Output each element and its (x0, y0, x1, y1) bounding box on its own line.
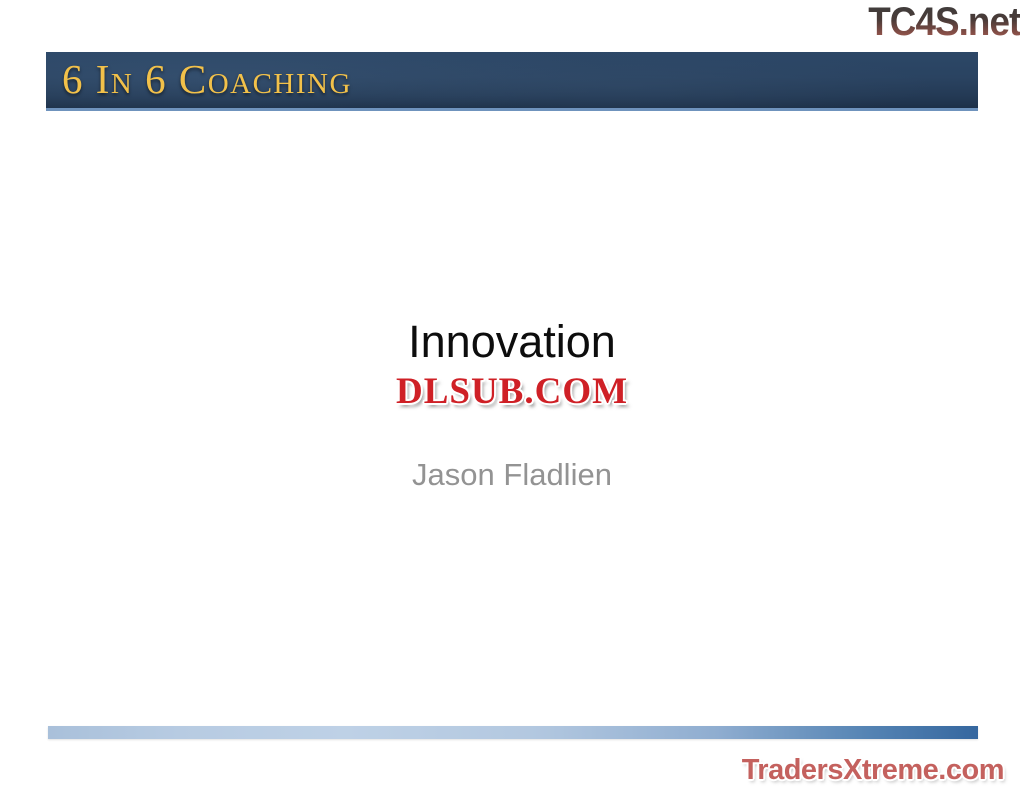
slide-header-banner: 6 In 6 Coaching (46, 52, 978, 111)
slide-subtitle-author: Jason Fladlien (0, 456, 1024, 494)
footer-divider-bar (48, 726, 978, 739)
page-title: Innovation (0, 316, 1024, 368)
tradersxtreme-watermark: TradersXtreme.com (742, 753, 1004, 787)
dlsub-watermark: DLSUB.COM (396, 373, 628, 411)
presentation-slide: TC4S.net 6 In 6 Coaching Innovation DLSU… (0, 0, 1024, 791)
tc4s-watermark: TC4S.net (868, 2, 1020, 42)
banner-title: 6 In 6 Coaching (62, 57, 352, 101)
